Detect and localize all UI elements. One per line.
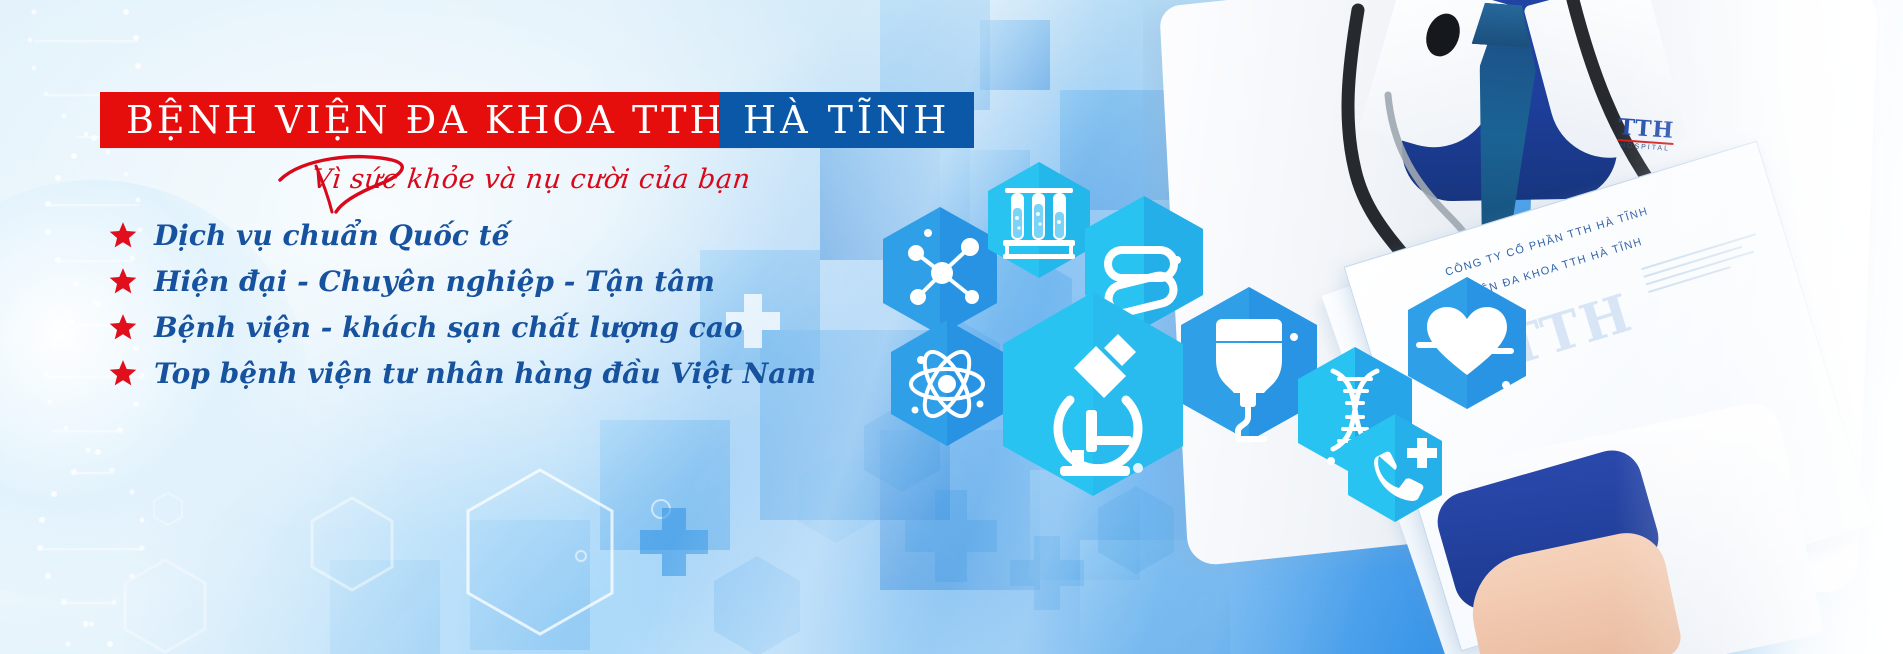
star-icon <box>108 359 138 387</box>
tagline-text: Vì sức khỏe và nụ cười của bạn <box>310 164 752 195</box>
emergency-call-icon <box>1345 412 1445 524</box>
star-icon <box>108 221 138 249</box>
feature-list: Dịch vụ chuẩn Quốc tế Hiện đại - Chuyên … <box>108 212 816 396</box>
heartbeat-icon <box>1405 275 1529 411</box>
hospital-name-banner: BỆNH VIỆN ĐA KHOA TTH <box>100 92 752 148</box>
list-item-label: Dịch vụ chuẩn Quốc tế <box>154 219 509 252</box>
hospital-name-text: BỆNH VIỆN ĐA KHOA TTH <box>126 101 726 139</box>
list-item: Dịch vụ chuẩn Quốc tế <box>108 212 816 258</box>
star-icon <box>108 267 138 295</box>
tth-hospital-logo: TTH HOSPITAL <box>1617 116 1675 153</box>
list-item-label: Top bệnh viện tư nhân hàng đầu Việt Nam <box>154 357 816 390</box>
list-item: Top bệnh viện tư nhân hàng đầu Việt Nam <box>108 350 816 396</box>
star-icon <box>108 313 138 341</box>
province-banner: HÀ TĨNH <box>719 92 974 148</box>
atom-icon <box>888 318 1006 448</box>
list-item-label: Hiện đại - Chuyên nghiệp - Tận tâm <box>154 265 715 298</box>
hospital-banner: CÔNG TY CỔ PHẦN TTH HÀ TĨNH BỆNH VIỆN ĐA… <box>0 0 1903 654</box>
list-item: Bệnh viện - khách sạn chất lượng cao <box>108 304 816 350</box>
list-item: Hiện đại - Chuyên nghiệp - Tận tâm <box>108 258 816 304</box>
province-name-text: HÀ TĨNH <box>743 101 950 139</box>
test-tubes-icon <box>985 160 1093 280</box>
logo-mark: TTH <box>1618 116 1675 142</box>
tagline: Vì sức khỏe và nụ cười của bạn <box>272 162 912 208</box>
microscope-icon <box>1000 290 1186 498</box>
list-item-label: Bệnh viện - khách sạn chất lượng cao <box>154 311 743 344</box>
